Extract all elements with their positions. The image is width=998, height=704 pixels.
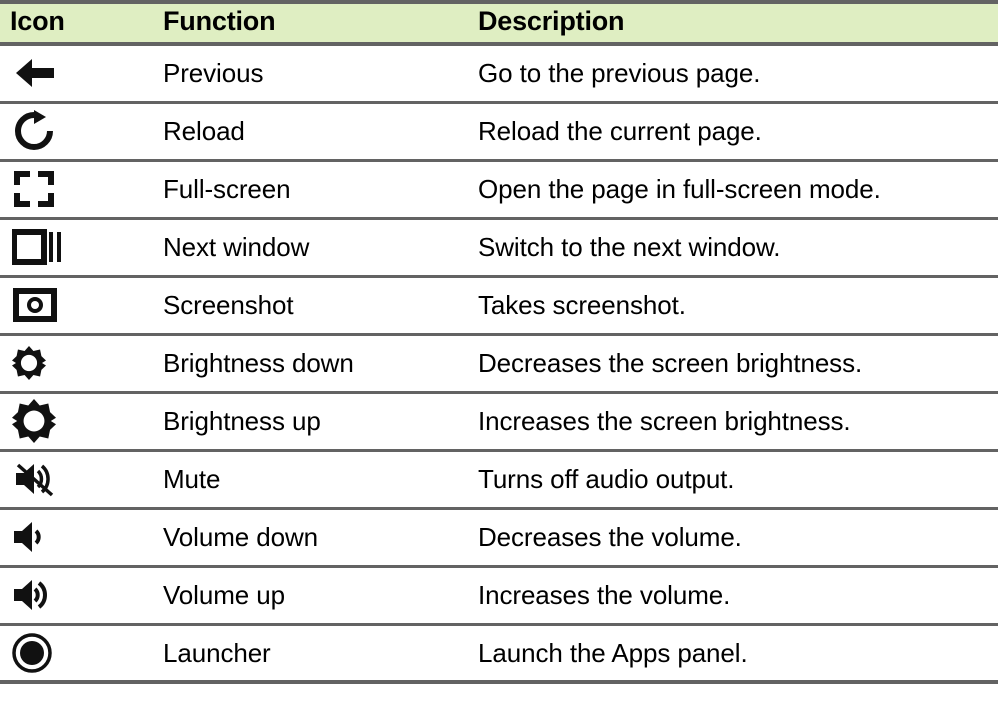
description-text: Decreases the screen brightness. [478,349,998,378]
cell-function: Mute [163,450,478,508]
table-row: Brightness down Decreases the screen bri… [0,334,998,392]
cell-icon [0,450,163,508]
function-label: Reload [163,117,478,146]
cell-description: Increases the screen brightness. [478,392,998,450]
cell-description: Takes screenshot. [478,276,998,334]
table-body: Previous Go to the previous page. [0,44,998,682]
cell-function: Brightness up [163,392,478,450]
description-text: Launch the Apps panel. [478,639,998,668]
description-text: Open the page in full-screen mode. [478,175,998,204]
function-label: Mute [163,465,478,494]
cell-function: Volume down [163,508,478,566]
cell-icon [0,566,163,624]
cell-description: Reload the current page. [478,102,998,160]
description-text: Increases the volume. [478,581,998,610]
cell-function: Previous [163,44,478,102]
cell-description: Decreases the screen brightness. [478,334,998,392]
table-row: Screenshot Takes screenshot. [0,276,998,334]
cell-description: Switch to the next window. [478,218,998,276]
function-keys-table: Icon Function Description Previous [0,0,998,684]
function-label: Brightness down [163,349,478,378]
next-window-icon [12,224,68,270]
screenshot-icon [12,282,68,328]
description-text: Switch to the next window. [478,233,998,262]
volume-down-icon [12,514,68,560]
function-label: Next window [163,233,478,262]
column-header-description: Description [478,2,998,44]
description-text: Go to the previous page. [478,59,998,88]
table-row: Mute Turns off audio output. [0,450,998,508]
table-header-row: Icon Function Description [0,2,998,44]
description-text: Reload the current page. [478,117,998,146]
function-keys-table-container: Icon Function Description Previous [0,0,998,684]
cell-description: Launch the Apps panel. [478,624,998,682]
cell-icon [0,508,163,566]
reload-icon [12,108,68,154]
table-row: Volume up Increases the volume. [0,566,998,624]
cell-icon [0,102,163,160]
cell-function: Volume up [163,566,478,624]
function-label: Volume up [163,581,478,610]
fullscreen-icon [12,166,68,212]
cell-icon [0,392,163,450]
arrow-left-icon [12,50,68,96]
function-label: Screenshot [163,291,478,320]
cell-icon [0,624,163,682]
table-row: Previous Go to the previous page. [0,44,998,102]
cell-description: Go to the previous page. [478,44,998,102]
function-label: Previous [163,59,478,88]
description-text: Decreases the volume. [478,523,998,552]
description-text: Increases the screen brightness. [478,407,998,436]
table-row: Reload Reload the current page. [0,102,998,160]
column-header-function: Function [163,2,478,44]
function-label: Volume down [163,523,478,552]
table-row: Brightness up Increases the screen brigh… [0,392,998,450]
cell-function: Next window [163,218,478,276]
cell-icon [0,334,163,392]
table-row: Full-screen Open the page in full-screen… [0,160,998,218]
table-row: Launcher Launch the Apps panel. [0,624,998,682]
function-label: Launcher [163,639,478,668]
cell-function: Screenshot [163,276,478,334]
cell-icon [0,160,163,218]
cell-description: Open the page in full-screen mode. [478,160,998,218]
cell-icon [0,276,163,334]
brightness-up-icon [12,398,68,444]
description-text: Turns off audio output. [478,465,998,494]
mute-icon [12,456,68,502]
volume-up-icon [12,572,68,618]
table-row: Volume down Decreases the volume. [0,508,998,566]
table-header: Icon Function Description [0,2,998,44]
function-label: Full-screen [163,175,478,204]
table-row: Next window Switch to the next window. [0,218,998,276]
cell-icon [0,218,163,276]
cell-icon [0,44,163,102]
cell-function: Launcher [163,624,478,682]
column-header-icon: Icon [0,2,163,44]
cell-description: Turns off audio output. [478,450,998,508]
cell-description: Increases the volume. [478,566,998,624]
cell-description: Decreases the volume. [478,508,998,566]
description-text: Takes screenshot. [478,291,998,320]
cell-function: Full-screen [163,160,478,218]
cell-function: Brightness down [163,334,478,392]
function-label: Brightness up [163,407,478,436]
cell-function: Reload [163,102,478,160]
launcher-icon [12,630,68,676]
brightness-down-icon [12,340,68,386]
